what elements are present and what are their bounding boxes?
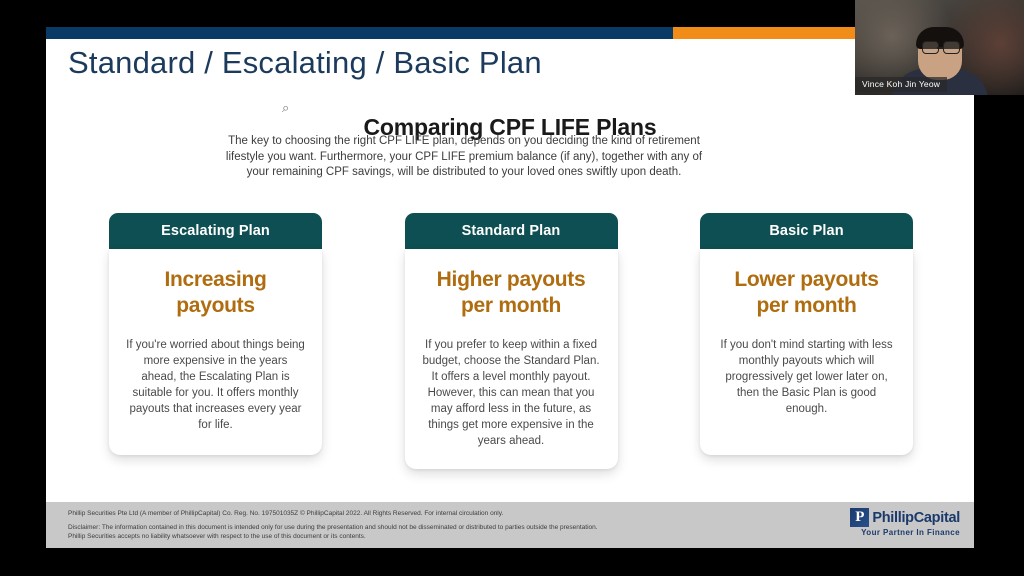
plan-card-title: Increasing payouts	[125, 267, 306, 319]
phillip-p-mark-icon: P	[850, 508, 869, 527]
plan-card-header-label: Escalating Plan	[161, 223, 270, 239]
eyeglasses-bridge-icon	[937, 47, 943, 49]
plan-card-header: Escalating Plan	[109, 213, 322, 249]
accent-bar-navy-segment	[46, 27, 673, 39]
plan-card-title: Higher payouts per month	[421, 267, 602, 319]
plan-card-basic: Basic Plan Lower payouts per month If yo…	[700, 213, 913, 469]
plan-cards-row: Escalating Plan Increasing payouts If yo…	[109, 213, 913, 469]
plan-card-description: If you're worried about things being mor…	[125, 337, 306, 433]
plan-card-header-label: Standard Plan	[462, 223, 561, 239]
plan-card-title: Lower payouts per month	[716, 267, 897, 319]
footer-disclaimer-line-2: Phillip Securities accepts no liability …	[68, 532, 768, 541]
intro-paragraph: The key to choosing the right CPF LIFE p…	[214, 134, 714, 181]
plan-card-body: Higher payouts per month If you prefer t…	[405, 249, 618, 469]
plan-card-body: Increasing payouts If you're worried abo…	[109, 249, 322, 455]
plan-card-standard: Standard Plan Higher payouts per month I…	[405, 213, 618, 469]
phillipcapital-logo: P PhillipCapital Your Partner In Finance	[850, 508, 960, 537]
participant-name-label: Vince Koh Jin Yeow	[855, 77, 947, 92]
logo-row: P PhillipCapital	[850, 508, 960, 527]
plan-card-header: Standard Plan	[405, 213, 618, 249]
logo-tagline: Your Partner In Finance	[861, 528, 960, 537]
magnifier-cursor-icon: ⌕	[282, 101, 296, 115]
slide-title: Standard / Escalating / Basic Plan	[68, 45, 542, 81]
plan-card-body: Lower payouts per month If you don't min…	[700, 249, 913, 455]
plan-card-description: If you don't mind starting with less mon…	[716, 337, 897, 417]
participant-video-tile[interactable]: Vince Koh Jin Yeow	[855, 0, 1024, 95]
plan-card-header: Basic Plan	[700, 213, 913, 249]
plan-card-escalating: Escalating Plan Increasing payouts If yo…	[109, 213, 322, 469]
presentation-slide: Standard / Escalating / Basic Plan ⌕ Com…	[46, 27, 974, 548]
meeting-stage: Standard / Escalating / Basic Plan ⌕ Com…	[0, 0, 1024, 576]
slide-footer: Phillip Securities Pte Ltd (A member of …	[46, 502, 974, 548]
footer-disclaimer-line-1: Disclaimer: The information contained in…	[68, 523, 768, 532]
plan-card-header-label: Basic Plan	[769, 223, 843, 239]
slide-accent-bar	[46, 27, 974, 39]
footer-text-block: Phillip Securities Pte Ltd (A member of …	[68, 509, 768, 541]
eyeglasses-right-lens-icon	[943, 41, 960, 54]
logo-wordmark: PhillipCapital	[872, 510, 960, 526]
footer-copyright-line: Phillip Securities Pte Ltd (A member of …	[68, 509, 768, 518]
plan-card-description: If you prefer to keep within a fixed bud…	[421, 337, 602, 449]
